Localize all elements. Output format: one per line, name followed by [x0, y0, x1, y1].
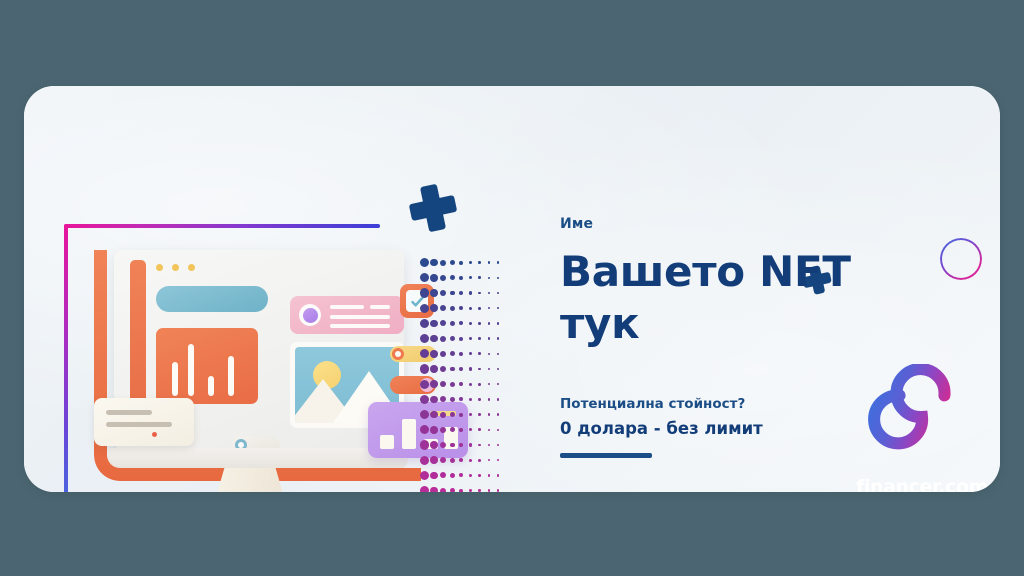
brand-block: financer.com [836, 364, 1000, 492]
accent-underline [560, 453, 652, 458]
monitor-stand-neck [210, 468, 290, 492]
gradient-frame-vertical [64, 224, 68, 492]
note-card-icon [94, 398, 194, 446]
plus-cross-icon [406, 181, 461, 236]
promo-card: Име Вашето NFT тук Потенциална стойност?… [24, 86, 1000, 492]
traffic-light-dots-icon [156, 264, 195, 271]
halftone-dots-pattern [420, 258, 500, 492]
circle-outline-icon [940, 238, 982, 280]
gradient-frame-horizontal [64, 224, 380, 228]
status-dot [152, 432, 157, 437]
nft-dashboard-monitor-illustration [84, 236, 444, 492]
headline-line-1: Вашето NFT [560, 247, 851, 296]
brand-name: financer.com [836, 476, 1000, 492]
page-title: Вашето NFT тук [560, 246, 890, 350]
headline-line-2: тук [560, 299, 639, 348]
infinity-icon [842, 364, 1000, 470]
monitor-chin [108, 448, 408, 470]
pill-bar-icon [156, 286, 268, 312]
banner-stage: Име Вашето NFT тук Потенциална стойност?… [0, 0, 1024, 576]
eyebrow-label: Име [560, 216, 890, 232]
bar-chart-icon [156, 328, 258, 404]
avatar [299, 304, 321, 326]
user-card-icon [290, 296, 404, 334]
